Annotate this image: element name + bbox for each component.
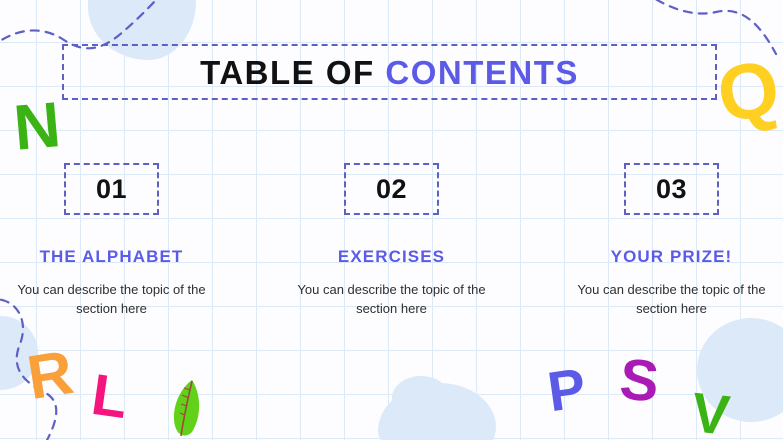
- title-box: TABLE OF CONTENTS: [62, 44, 717, 100]
- section-heading-1: THE ALPHABET: [40, 248, 184, 265]
- section-heading-3: YOUR PRIZE!: [611, 248, 733, 265]
- section-column-2[interactable]: 02 EXERCISES You can describe the topic …: [286, 163, 498, 319]
- section-description-3: You can describe the topic of the sectio…: [572, 281, 772, 319]
- section-description-1: You can describe the topic of the sectio…: [12, 281, 212, 319]
- page-title: TABLE OF CONTENTS: [200, 56, 579, 89]
- title-part-dark: TABLE OF: [200, 54, 375, 91]
- decorative-letter-n: N: [11, 92, 63, 160]
- title-part-accent: CONTENTS: [385, 54, 579, 91]
- section-number-box-2: 02: [344, 163, 439, 215]
- sections-row: 01 THE ALPHABET You can describe the top…: [0, 163, 783, 319]
- leaf-icon: [172, 378, 202, 440]
- section-number-3: 03: [656, 176, 687, 203]
- decorative-letter-r: R: [23, 342, 77, 410]
- slide-canvas: TABLE OF CONTENTS 01 THE ALPHABET You ca…: [0, 0, 783, 440]
- section-heading-2: EXERCISES: [338, 248, 445, 265]
- section-number-2: 02: [376, 176, 407, 203]
- section-column-3[interactable]: 03 YOUR PRIZE! You can describe the topi…: [566, 163, 778, 319]
- decorative-letter-v: V: [689, 384, 732, 440]
- decorative-letter-p: P: [544, 360, 589, 421]
- decorative-letter-q: Q: [712, 47, 783, 134]
- section-description-2: You can describe the topic of the sectio…: [292, 281, 492, 319]
- section-number-1: 01: [96, 176, 127, 203]
- section-number-box-1: 01: [64, 163, 159, 215]
- section-number-box-3: 03: [624, 163, 719, 215]
- section-column-1[interactable]: 01 THE ALPHABET You can describe the top…: [6, 163, 218, 319]
- decorative-letter-s: S: [618, 350, 662, 411]
